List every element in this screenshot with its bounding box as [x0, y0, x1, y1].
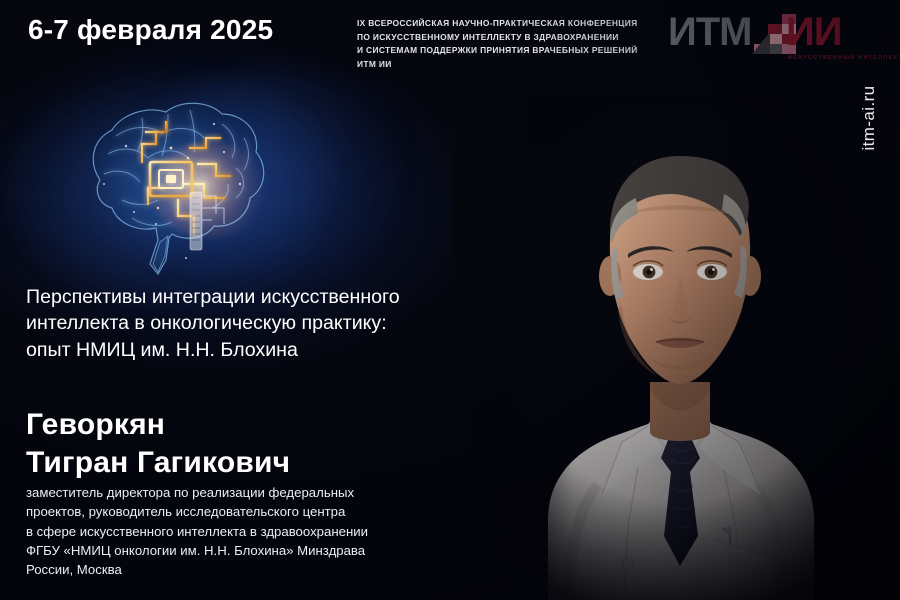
conference-announcement-poster: 6-7 февраля 2025 IX ВСЕРОССИЙСКАЯ НАУЧНО…	[0, 0, 900, 600]
chip-glow	[150, 142, 270, 238]
event-date: 6-7 февраля 2025	[28, 14, 273, 46]
speaker-surname: Геворкян	[26, 408, 165, 441]
affiliation-line-3: в сфере искусственного интеллекта в здра…	[26, 522, 478, 541]
itm-ai-logo[interactable]: ИТМ ИИ ИСКУССТВЕННЫЙ ИНТЕЛЛЕКТ	[668, 10, 884, 68]
website-url[interactable]: itm-ai.ru	[859, 33, 879, 203]
conference-line-4: ИТМ ИИ	[357, 58, 652, 72]
affiliation-line-5: России, Москва	[26, 560, 478, 579]
logo-text-itm: ИТМ	[668, 12, 752, 52]
affiliation-line-4: ФГБУ «НМИЦ онкологии им. Н.Н. Блохина» М…	[26, 541, 478, 560]
ai-brain-circuit-icon	[38, 88, 306, 284]
conference-line-2: ПО ИСКУССТВЕННОМУ ИНТЕЛЛЕКТУ В ЗДРАВОХРА…	[357, 31, 652, 45]
affiliation-line-1: заместитель директора по реализации феде…	[26, 483, 478, 502]
logo-text-ii: ИИ	[786, 12, 842, 52]
speaker-name: Геворкян Тигран Гагикович	[26, 406, 496, 482]
talk-title-line-1: Перспективы интеграции искусственного	[26, 284, 546, 310]
speaker-given-names: Тигран Гагикович	[26, 444, 496, 482]
talk-title: Перспективы интеграции искусственного ин…	[26, 284, 546, 363]
speaker-affiliation: заместитель директора по реализации феде…	[26, 483, 478, 579]
conference-description: IX ВСЕРОССИЙСКАЯ НАУЧНО-ПРАКТИЧЕСКАЯ КОН…	[357, 17, 652, 71]
logo-tagline: ИСКУССТВЕННЫЙ ИНТЕЛЛЕКТ	[788, 55, 900, 61]
talk-title-line-2: интеллекта в онкологическую практику:	[26, 310, 546, 336]
conference-line-1: IX ВСЕРОССИЙСКАЯ НАУЧНО-ПРАКТИЧЕСКАЯ КОН…	[357, 17, 652, 31]
conference-line-3: И СИСТЕМАМ ПОДДЕРЖКИ ПРИНЯТИЯ ВРАЧЕБНЫХ …	[357, 44, 652, 58]
talk-title-line-3: опыт НМИЦ им. Н.Н. Блохина	[26, 337, 546, 363]
affiliation-line-2: проектов, руководитель исследовательског…	[26, 502, 478, 521]
